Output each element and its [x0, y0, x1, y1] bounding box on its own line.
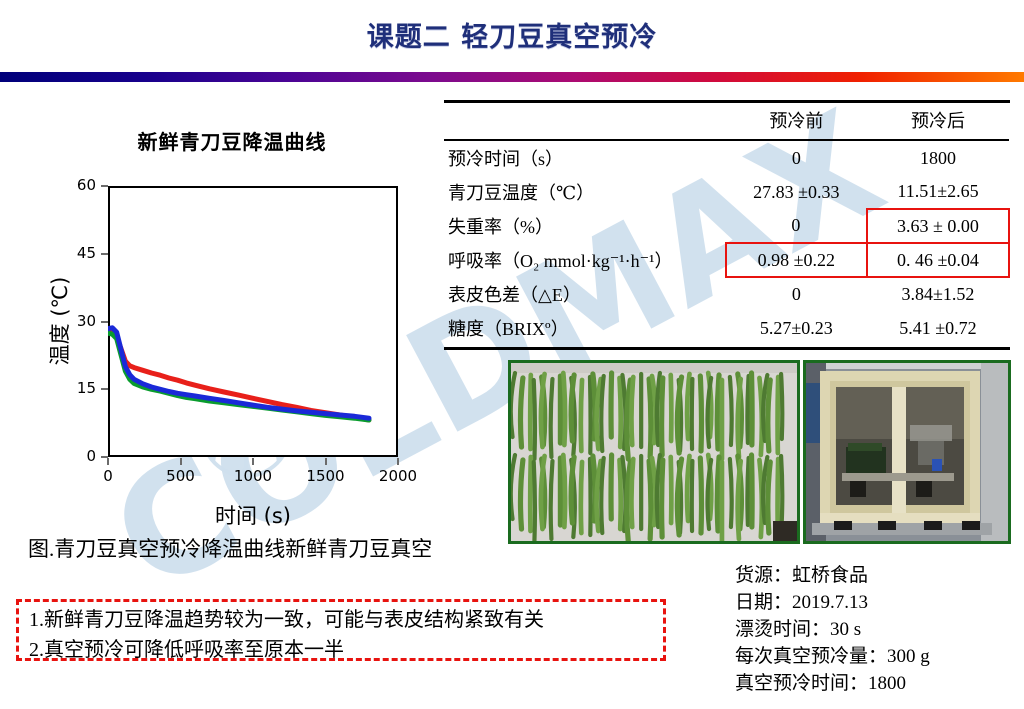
y-tick-label: 15 [50, 379, 96, 397]
bean [620, 378, 621, 447]
cell-before: 5.27±0.23 [726, 311, 867, 345]
series-line [108, 333, 369, 420]
x-tick-mark [180, 458, 182, 465]
bean [730, 459, 732, 527]
experiment-info: 货源：虹桥食品 日期：2019.7.13 漂烫时间：30 s 每次真空预冷量：3… [735, 562, 1020, 697]
x-tick-label: 2000 [368, 467, 428, 485]
bean [571, 375, 574, 441]
y-tick-label: 45 [50, 244, 96, 262]
green-beans-image [511, 363, 797, 541]
table-row: 糖度（BRIXº）5.27±0.235.41 ±0.72 [444, 311, 1009, 345]
bean [620, 460, 621, 529]
bean [692, 379, 693, 449]
y-tick-mark [101, 388, 108, 390]
bean [687, 456, 689, 521]
bean [611, 455, 612, 519]
info-date: 日期：2019.7.13 [735, 589, 1020, 616]
conclusion-line-2: 2.真空预冷可降低呼吸率至原本一半 [29, 635, 655, 665]
title-bar: 课题二 轻刀豆真空预冷 [0, 0, 1024, 68]
page-title: 课题二 轻刀豆真空预冷 [367, 15, 657, 54]
y-tick-mark [101, 253, 108, 255]
y-tick-mark [101, 321, 108, 323]
bean [700, 376, 701, 451]
table-row: 失重率（%）03.63 ± 0.00 [444, 209, 1009, 243]
cell-before: 0 [726, 209, 867, 243]
x-tick-mark [397, 458, 399, 465]
cell-after: 5.41 ±0.72 [867, 311, 1009, 345]
info-blanch-time: 漂烫时间：30 s [735, 616, 1020, 643]
table-row: 表皮色差（△E）03.84±1.52 [444, 277, 1009, 311]
cell-after-highlighted: 0. 46 ±0.04 [867, 243, 1009, 277]
bean [671, 457, 672, 523]
y-tick-label: 0 [50, 447, 96, 465]
bean [581, 380, 582, 451]
bean [687, 374, 689, 439]
x-tick-label: 500 [151, 467, 211, 485]
precooling-results-table: 预冷前 预冷后 预冷时间（s）01800青刀豆温度（℃）27.83 ±0.331… [444, 100, 1010, 345]
table-row: 呼吸率（O₂ mmol·kg⁻¹·h⁻¹）0.98 ±0.220. 46 ±0.… [444, 243, 1009, 277]
bean [611, 373, 612, 437]
bean [752, 455, 753, 527]
bean [534, 462, 535, 541]
info-vacuum-time: 真空预冷时间：1800 [735, 670, 1020, 697]
bean [662, 460, 663, 537]
bean [520, 460, 522, 529]
bean [520, 378, 522, 447]
bean [781, 374, 782, 439]
bean [631, 377, 633, 445]
x-tick-label: 1000 [223, 467, 283, 485]
row-label: 糖度（BRIXº） [444, 311, 726, 345]
bean [590, 459, 591, 535]
cell-before: 0 [726, 140, 867, 175]
cell-before: 0 [726, 277, 867, 311]
cell-after: 1800 [867, 140, 1009, 175]
cell-after: 3.84±1.52 [867, 277, 1009, 311]
gradient-divider [0, 72, 1024, 82]
conclusion-line-1: 1.新鲜青刀豆降温趋势较为一致，可能与表皮结构紧致有关 [29, 605, 655, 635]
row-label: 表皮色差（△E） [444, 277, 726, 311]
bean [649, 379, 651, 457]
chart-caption: 图.青刀豆真空预冷降温曲线新鲜青刀豆真空 [28, 533, 508, 563]
y-tick-label: 60 [50, 176, 96, 194]
bean [563, 373, 565, 445]
x-tick-mark [325, 458, 327, 465]
bean [671, 375, 672, 441]
bean [747, 458, 748, 525]
bean [601, 458, 603, 533]
bean [551, 461, 553, 539]
bean [530, 457, 531, 531]
table-row: 预冷时间（s）01800 [444, 140, 1009, 175]
bean [752, 373, 753, 445]
x-tick-label: 1500 [296, 467, 356, 485]
photo-green-beans [508, 360, 800, 544]
y-tick-label: 30 [50, 312, 96, 330]
bean [581, 462, 582, 533]
bean [649, 461, 651, 539]
bean [590, 377, 591, 453]
x-axis-label: 时间 (s) [108, 500, 398, 530]
table-row: 青刀豆温度（℃）27.83 ±0.3311.51±2.65 [444, 175, 1009, 209]
cell-before: 27.83 ±0.33 [726, 175, 867, 209]
header-after: 预冷后 [867, 102, 1009, 141]
row-label: 预冷时间（s） [444, 140, 726, 175]
bean [530, 375, 531, 449]
bean [631, 459, 633, 527]
bean [662, 378, 663, 455]
x-tick-mark [107, 458, 109, 465]
cooling-curve-chart: 新鲜青刀豆降温曲线 温度 (℃) 015304560 0500100015002… [12, 126, 432, 526]
bean [692, 461, 693, 531]
y-tick-mark [101, 185, 108, 187]
bean [601, 376, 603, 451]
table-bottom-rule [444, 347, 1010, 350]
bean [551, 379, 553, 457]
cell-before-highlighted: 0.98 ±0.22 [726, 243, 867, 277]
row-label: 呼吸率（O₂ mmol·kg⁻¹·h⁻¹） [444, 243, 726, 277]
table-header-row: 预冷前 预冷后 [444, 102, 1009, 141]
bean [534, 380, 535, 459]
bean [717, 375, 719, 449]
x-tick-mark [252, 458, 254, 465]
bean [747, 376, 748, 443]
cell-after-highlighted: 3.63 ± 0.00 [867, 209, 1009, 243]
row-label: 青刀豆温度（℃） [444, 175, 726, 209]
cell-after: 11.51±2.65 [867, 175, 1009, 209]
chart-title: 新鲜青刀豆降温曲线 [32, 126, 432, 155]
vacuum-chamber-image [806, 363, 1008, 541]
series-lines [108, 186, 398, 457]
bean [768, 462, 770, 533]
info-batch-amount: 每次真空预冷量：300 g [735, 643, 1020, 670]
header-metric [444, 102, 726, 141]
row-label: 失重率（%） [444, 209, 726, 243]
info-source: 货源：虹桥食品 [735, 562, 1020, 589]
plot-area: 温度 (℃) 015304560 0500100015002000 时间 (s) [12, 178, 432, 526]
bean [563, 455, 565, 527]
bean [700, 458, 701, 533]
header-before: 预冷前 [726, 102, 867, 141]
conclusions-box: 1.新鲜青刀豆降温趋势较为一致，可能与表皮结构紧致有关 2.真空预冷可降低呼吸率… [16, 599, 666, 661]
bean [571, 457, 574, 523]
bean [781, 456, 782, 521]
bean [717, 457, 719, 531]
bean [778, 377, 779, 453]
bean [730, 377, 732, 445]
bean [768, 380, 770, 451]
table-body: 预冷时间（s）01800青刀豆温度（℃）27.83 ±0.3311.51±2.6… [444, 140, 1009, 345]
x-tick-label: 0 [78, 467, 138, 485]
photo-vacuum-chamber [803, 360, 1011, 544]
